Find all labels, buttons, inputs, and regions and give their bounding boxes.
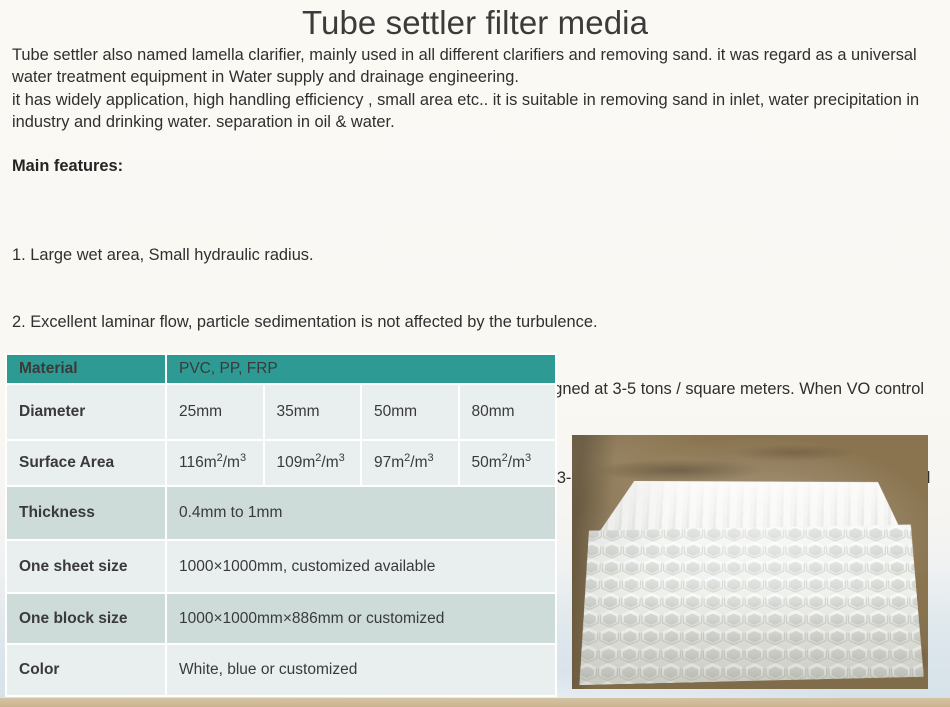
main-features-heading: Main features:	[0, 155, 950, 177]
spec-value-diameter-25: 25mm	[166, 384, 264, 440]
honeycomb-block	[576, 481, 924, 685]
spec-value-surface-area-3: 97m2/m3	[361, 440, 459, 486]
spec-label-thickness: Thickness	[6, 486, 166, 540]
spec-value-surface-area-4: 50m2/m3	[459, 440, 557, 486]
table-row: Surface Area 116m2/m3 109m2/m3 97m2/m3 5…	[6, 440, 556, 486]
spec-value-diameter-35: 35mm	[264, 384, 362, 440]
table-row: Diameter 25mm 35mm 50mm 80mm	[6, 384, 556, 440]
intro-text-block: Tube settler also named lamella clarifie…	[0, 44, 950, 133]
table-row: Material PVC, PP, FRP	[6, 354, 556, 384]
table-row: One block size 1000×1000mm×886mm or cust…	[6, 593, 556, 644]
intro-paragraph-1: Tube settler also named lamella clarifie…	[12, 44, 936, 89]
spec-value-thickness: 0.4mm to 1mm	[166, 486, 556, 540]
spec-label-color: Color	[6, 644, 166, 696]
specification-table: Material PVC, PP, FRP Diameter 25mm 35mm…	[5, 353, 557, 697]
table-row: Color White, blue or customized	[6, 644, 556, 696]
spec-value-diameter-80: 80mm	[459, 384, 557, 440]
honeycomb-hex-grid	[576, 525, 924, 685]
spec-value-one-sheet-size: 1000×1000mm, customized available	[166, 540, 556, 593]
table-row: One sheet size 1000×1000mm, customized a…	[6, 540, 556, 593]
product-photo	[572, 435, 928, 689]
table-row: Thickness 0.4mm to 1mm	[6, 486, 556, 540]
page-title: Tube settler filter media	[0, 0, 950, 44]
spec-value-diameter-50: 50mm	[361, 384, 459, 440]
feature-item-1: 1. Large wet area, Small hydraulic radiu…	[12, 244, 938, 266]
spec-value-surface-area-2: 109m2/m3	[264, 440, 362, 486]
spec-value-surface-area-1: 116m2/m3	[166, 440, 264, 486]
slide-content: Tube settler filter media Tube settler a…	[0, 0, 950, 707]
spec-value-one-block-size: 1000×1000mm×886mm or customized	[166, 593, 556, 644]
spec-value-color: White, blue or customized	[166, 644, 556, 696]
spec-label-material: Material	[6, 354, 166, 384]
intro-paragraph-2: it has widely application, high handling…	[12, 89, 936, 134]
spec-value-material: PVC, PP, FRP	[166, 354, 556, 384]
spec-label-surface-area: Surface Area	[6, 440, 166, 486]
spec-label-one-sheet-size: One sheet size	[6, 540, 166, 593]
feature-item-2: 2. Excellent laminar flow, particle sedi…	[12, 311, 938, 333]
spec-label-one-block-size: One block size	[6, 593, 166, 644]
spec-label-diameter: Diameter	[6, 384, 166, 440]
